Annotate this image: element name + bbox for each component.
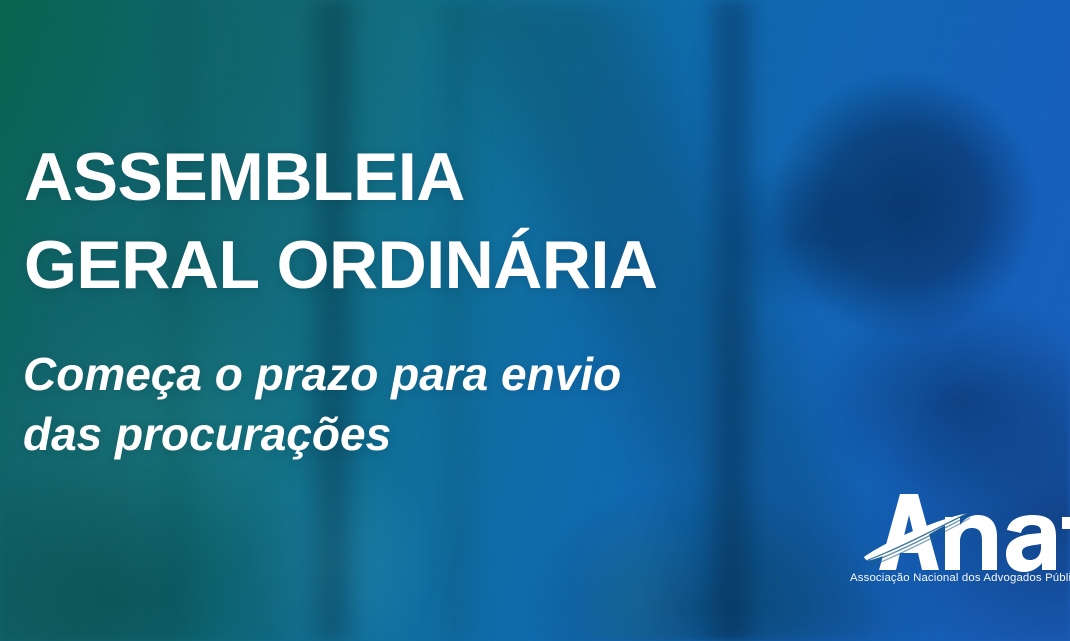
subtitle-line-1: Começa o prazo para envio xyxy=(23,344,621,404)
headline-line-2: GERAL ORDINÁRIA xyxy=(24,221,658,309)
headline-line-1: ASSEMBLEIA xyxy=(24,133,658,221)
headline: ASSEMBLEIA GERAL ORDINÁRIA xyxy=(24,133,658,309)
subtitle-line-2: das procurações xyxy=(23,404,621,464)
subtitle: Começa o prazo para envio das procuraçõe… xyxy=(23,344,621,464)
anafe-wordmark-icon xyxy=(838,484,1070,584)
banner-image: ASSEMBLEIA GERAL ORDINÁRIA Começa o praz… xyxy=(0,0,1070,641)
anafe-logo-tagline: Associação Nacional dos Advogados Públic… xyxy=(850,572,1070,584)
anafe-logo: Associação Nacional dos Advogados Públic… xyxy=(838,484,1070,604)
